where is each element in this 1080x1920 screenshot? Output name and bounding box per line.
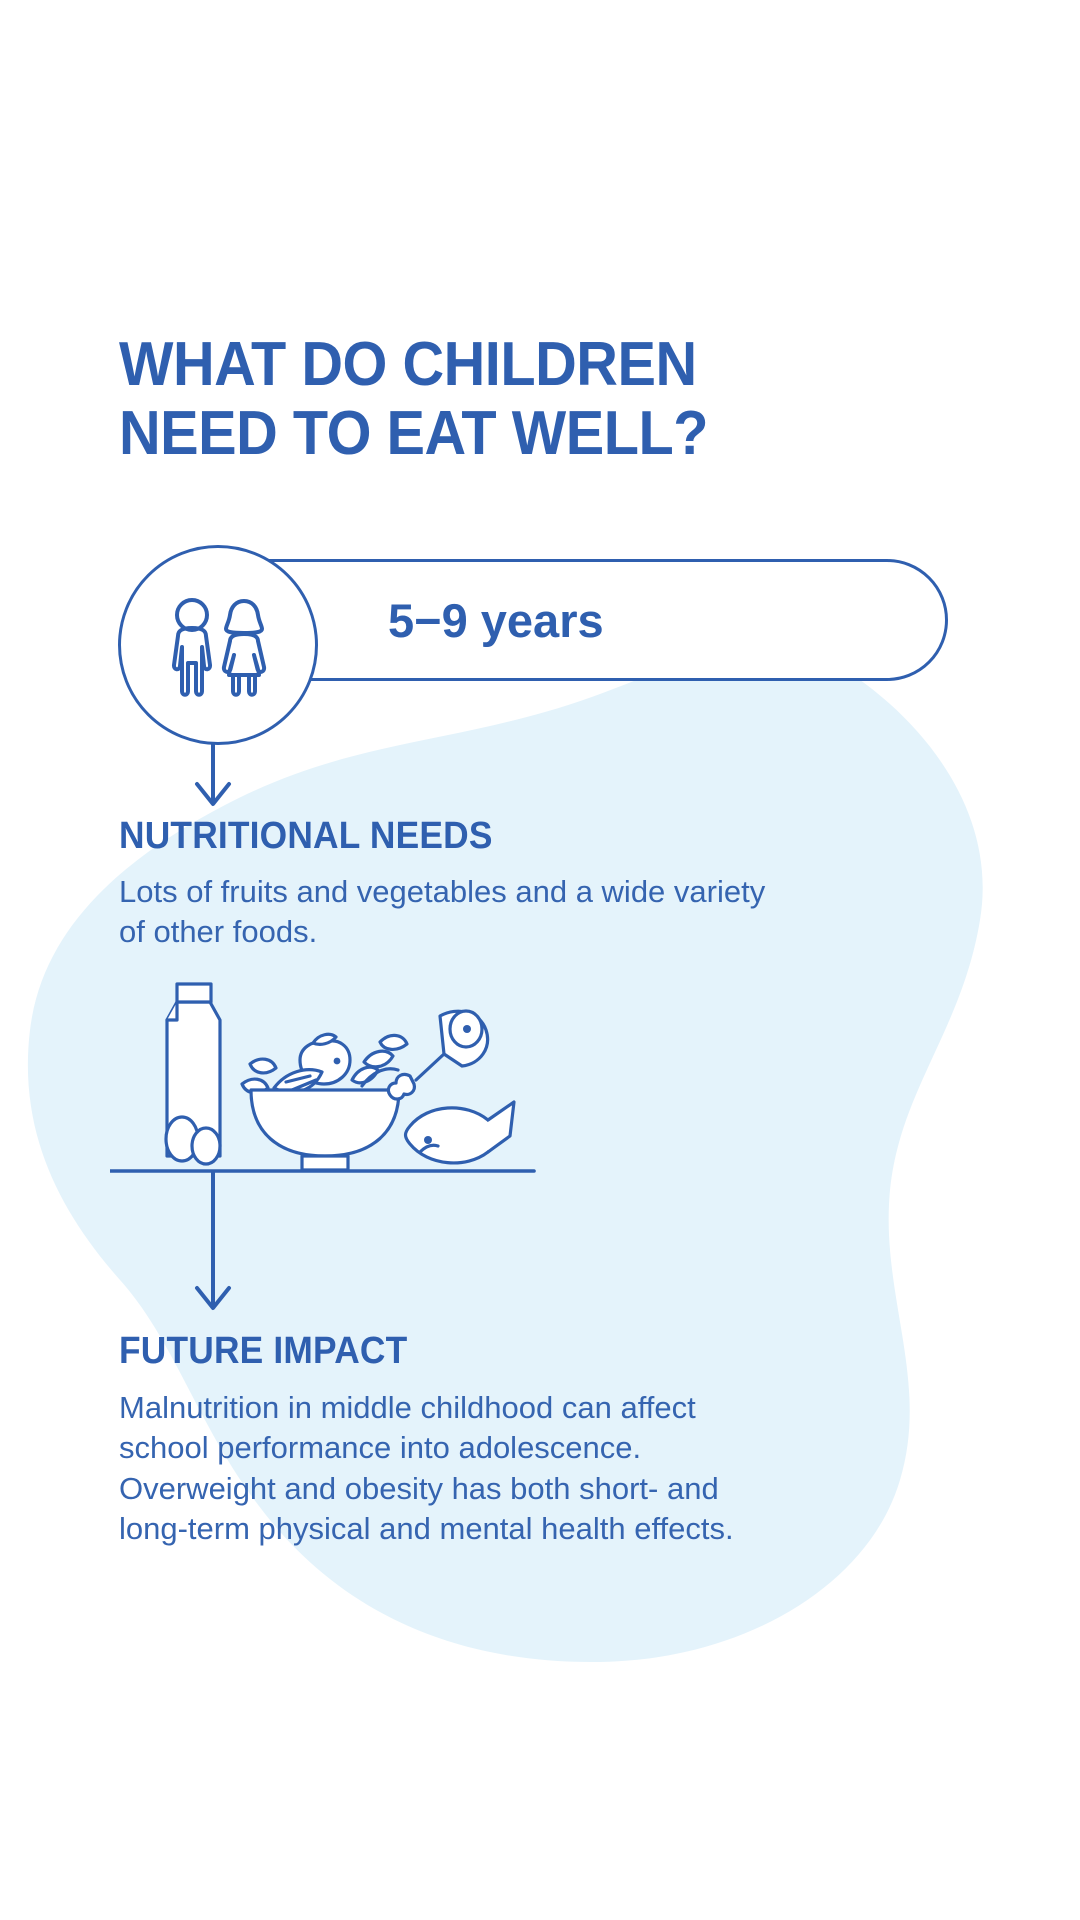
arrow-down-from-food-illustration bbox=[183, 1172, 243, 1312]
page-title: WHAT DO CHILDREN NEED TO EAT WELL? bbox=[119, 330, 863, 469]
two-children-icon bbox=[118, 545, 318, 745]
arrow-down-from-age-circle bbox=[183, 740, 243, 808]
future-impact-heading: FUTURE IMPACT bbox=[119, 1330, 407, 1373]
nutritional-needs-heading: NUTRITIONAL NEEDS bbox=[119, 815, 493, 858]
future-impact-body: Malnutrition in middle childhood can aff… bbox=[119, 1388, 939, 1549]
age-badge[interactable]: 5−9 years bbox=[118, 545, 938, 695]
foods-milk-eggs-bowl-meat-fish-icon bbox=[110, 980, 540, 1180]
nutritional-needs-body: Lots of fruits and vegetables and a wide… bbox=[119, 872, 939, 953]
infographic-page: WHAT DO CHILDREN NEED TO EAT WELL? 5−9 y… bbox=[0, 0, 1080, 1920]
age-badge-label: 5−9 years bbox=[388, 559, 604, 681]
